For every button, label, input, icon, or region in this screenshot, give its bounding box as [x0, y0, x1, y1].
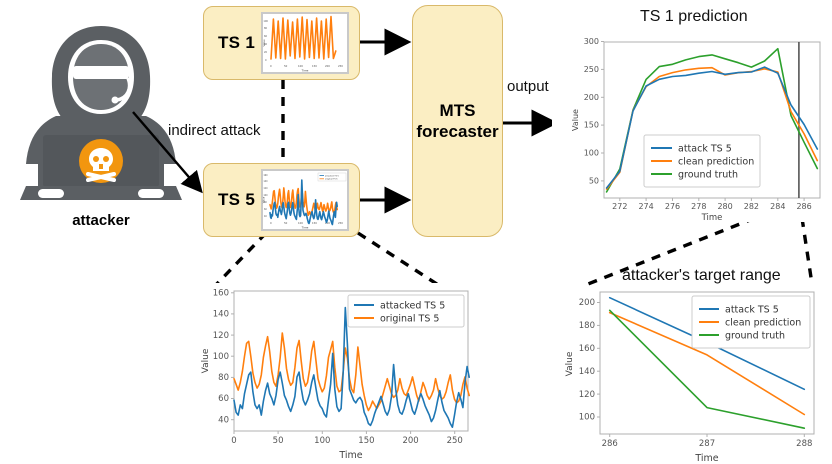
svg-text:140: 140	[264, 180, 269, 183]
svg-text:276: 276	[665, 202, 680, 211]
mts-forecaster-box[interactable]: MTS forecaster	[412, 5, 503, 237]
svg-text:20: 20	[264, 51, 268, 54]
svg-text:160: 160	[264, 174, 269, 177]
indirect-attack-label: indirect attack	[168, 122, 261, 139]
svg-text:original TS 5: original TS 5	[380, 314, 439, 325]
svg-text:150: 150	[584, 121, 599, 130]
svg-text:attack TS 5: attack TS 5	[725, 305, 779, 316]
svg-text:Value: Value	[565, 351, 575, 376]
attacked-ts5-chart: 40 60 80 100 120 140 160 Value 050100 15…	[192, 283, 482, 463]
svg-text:attacked TS 5: attacked TS 5	[380, 301, 445, 312]
svg-text:140: 140	[213, 310, 229, 320]
svg-text:50: 50	[284, 221, 288, 225]
svg-text:150: 150	[358, 436, 374, 446]
svg-text:clean prediction: clean prediction	[725, 318, 801, 329]
svg-text:300: 300	[584, 37, 599, 46]
svg-text:80: 80	[264, 27, 268, 30]
svg-text:282: 282	[744, 202, 759, 211]
svg-text:100: 100	[264, 194, 269, 197]
svg-text:160: 160	[579, 344, 595, 354]
ts5-mini-legend: attacked TS 5 original TS 5	[318, 173, 346, 181]
svg-text:Time: Time	[301, 69, 309, 73]
ts1-box[interactable]: TS 1 050100 150200250 Time 02040 6080100…	[203, 6, 360, 80]
svg-text:287: 287	[699, 439, 715, 449]
svg-text:100: 100	[298, 221, 303, 225]
svg-text:250: 250	[447, 436, 463, 446]
svg-text:ground truth: ground truth	[725, 331, 785, 342]
svg-text:284: 284	[770, 202, 785, 211]
svg-text:Time: Time	[694, 453, 718, 464]
svg-text:120: 120	[264, 187, 269, 190]
svg-text:140: 140	[579, 367, 595, 377]
svg-text:0: 0	[231, 436, 236, 446]
svg-text:250: 250	[584, 65, 599, 74]
svg-text:100: 100	[264, 20, 269, 23]
svg-text:40: 40	[218, 415, 229, 425]
svg-text:100: 100	[213, 352, 229, 362]
svg-text:attack TS 5: attack TS 5	[678, 144, 732, 155]
svg-text:80: 80	[218, 373, 229, 383]
ts1-mini-chart: 050100 150200250 Time 02040 6080100 Valu…	[261, 12, 349, 74]
figure-canvas: attacker indirect attack output TS 1	[0, 0, 832, 464]
svg-text:original TS 5: original TS 5	[325, 178, 338, 181]
ts5-box-label: TS 5	[218, 190, 255, 210]
attacker-target-range-legend: attack TS 5 clean prediction ground trut…	[692, 296, 810, 348]
svg-text:250: 250	[338, 64, 343, 68]
ts1-prediction-title: TS 1 prediction	[640, 8, 748, 26]
svg-text:Time: Time	[338, 450, 362, 461]
mts-forecaster-label-line1: MTS	[440, 100, 476, 121]
dashed-ts5-zoom-right	[358, 233, 443, 288]
svg-text:Value: Value	[201, 348, 211, 373]
svg-text:150: 150	[312, 221, 317, 225]
svg-text:250: 250	[338, 221, 343, 225]
output-label: output	[507, 78, 549, 95]
svg-text:278: 278	[691, 202, 706, 211]
svg-text:100: 100	[298, 64, 303, 68]
svg-text:ground truth: ground truth	[678, 170, 738, 181]
svg-text:180: 180	[579, 321, 595, 331]
ts1-prediction-legend: attack TS 5 clean prediction ground trut…	[644, 135, 760, 187]
svg-text:150: 150	[312, 64, 317, 68]
svg-text:60: 60	[218, 394, 229, 404]
svg-text:50: 50	[273, 436, 284, 446]
svg-text:200: 200	[402, 436, 418, 446]
ts1-prediction-chart: 50 100 150 200 250 300 Value 272274276 2…	[552, 30, 830, 222]
svg-text:clean prediction: clean prediction	[678, 157, 754, 168]
dashed-pred-zoom-right	[802, 218, 812, 284]
svg-text:50: 50	[284, 64, 288, 68]
svg-text:120: 120	[213, 331, 229, 341]
svg-text:Value: Value	[263, 196, 266, 203]
svg-text:Time: Time	[701, 213, 723, 222]
attacker-target-range-chart: 100 120 140 160 180 200 Value 286287288 …	[552, 286, 832, 464]
svg-text:120: 120	[579, 390, 595, 400]
dashed-ts5-zoom-left	[212, 233, 266, 289]
svg-text:288: 288	[796, 439, 812, 449]
svg-text:60: 60	[264, 35, 268, 38]
svg-text:100: 100	[579, 413, 595, 423]
svg-text:50: 50	[589, 177, 599, 186]
svg-text:272: 272	[612, 202, 627, 211]
svg-text:286: 286	[602, 439, 618, 449]
svg-text:attacked TS 5: attacked TS 5	[325, 174, 339, 177]
svg-text:Time: Time	[301, 226, 309, 230]
svg-text:100: 100	[314, 436, 330, 446]
svg-text:Value: Value	[262, 39, 266, 47]
svg-text:100: 100	[584, 149, 599, 158]
svg-text:Value: Value	[571, 109, 580, 131]
ts5-mini-chart: 050100 150200250 Time 406080 10012014016…	[261, 169, 349, 231]
svg-text:274: 274	[638, 202, 653, 211]
svg-text:280: 280	[717, 202, 732, 211]
svg-text:200: 200	[325, 64, 330, 68]
mts-forecaster-label-line2: forecaster	[416, 121, 498, 142]
svg-text:200: 200	[584, 93, 599, 102]
svg-text:160: 160	[213, 289, 229, 299]
svg-text:286: 286	[796, 202, 811, 211]
svg-text:200: 200	[579, 298, 595, 308]
attacker-target-range-title: attacker's target range	[622, 267, 781, 285]
attacked-ts5-legend: attacked TS 5 original TS 5	[348, 295, 464, 327]
ts5-box[interactable]: TS 5 050100 150200250 Time 406080 100120…	[203, 163, 360, 237]
ts1-box-label: TS 1	[218, 33, 255, 53]
